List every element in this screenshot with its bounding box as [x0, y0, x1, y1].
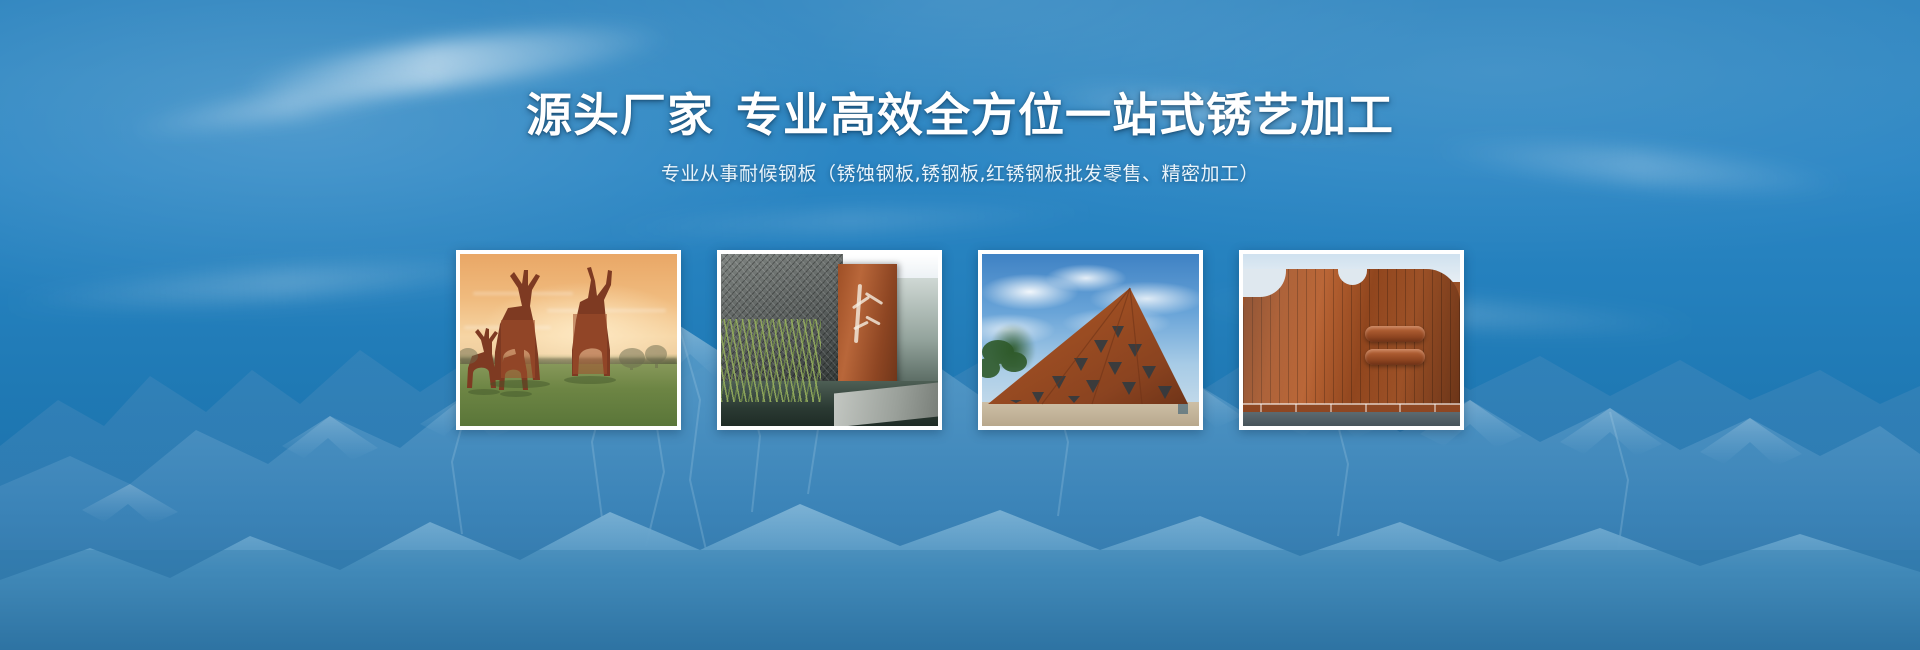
- gallery-item-corten-curved-facade-building[interactable]: [1239, 250, 1464, 430]
- corten-deer-sculptures-image: [460, 254, 677, 426]
- corten-triangular-pavilion-image: [982, 254, 1199, 426]
- cloud-wisp-icon: [600, 201, 1100, 240]
- gallery-item-corten-triangular-pavilion[interactable]: [978, 250, 1203, 430]
- page-subtitle: 专业从事耐候钢板（锈蚀钢板,锈钢板,红锈钢板批发零售、精密加工）: [0, 160, 1920, 188]
- corten-garden-wall-image: [721, 254, 938, 426]
- page-title-rest: 专业高效全方位一站式锈艺加工: [736, 88, 1394, 142]
- page-title: 源头厂家专业高效全方位一站式锈艺加工: [0, 86, 1920, 144]
- corten-curved-facade-building-image: [1243, 254, 1460, 426]
- gallery-item-corten-garden-wall[interactable]: [717, 250, 942, 430]
- page-title-lead: 源头厂家: [526, 88, 714, 142]
- banner-text-block: 源头厂家专业高效全方位一站式锈艺加工 专业从事耐候钢板（锈蚀钢板,锈钢板,红锈钢…: [0, 0, 1920, 188]
- gallery-item-corten-deer-sculptures[interactable]: [456, 250, 681, 430]
- hero-banner: 源头厂家专业高效全方位一站式锈艺加工 专业从事耐候钢板（锈蚀钢板,锈钢板,红锈钢…: [0, 0, 1920, 650]
- photo-gallery: [0, 250, 1920, 430]
